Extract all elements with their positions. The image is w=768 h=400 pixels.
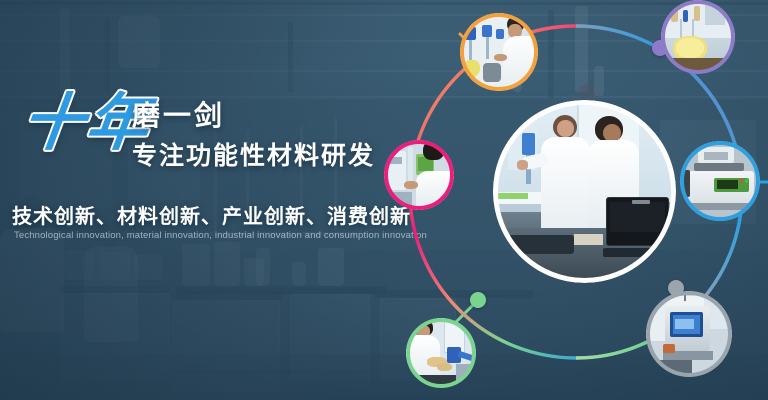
- subheadline-english: Technological innovation, material innov…: [14, 230, 427, 241]
- subheadline-chinese: 技术创新、材料创新、产业创新、消费创新: [12, 200, 411, 229]
- hero-banner: 十年 磨一剑 专注功能性材料研发 技术创新、材料创新、产业创新、消费创新 Tec…: [0, 0, 768, 400]
- satellite-photo-bottom-left[interactable]: [406, 318, 476, 388]
- satellite-photo-top-right[interactable]: [661, 0, 735, 74]
- photo-collage: [384, 0, 768, 400]
- headline-main-line: 十年 磨一剑 专注功能性材料研发: [12, 96, 412, 178]
- satellite-photo-bottom-right[interactable]: [646, 291, 732, 377]
- node-dot-bottom-left: [470, 292, 486, 308]
- headline-text-block: 十年 磨一剑 专注功能性材料研发 技术创新、材料创新、产业创新、消费创新 Tec…: [12, 96, 412, 178]
- satellite-photo-left[interactable]: [384, 140, 454, 210]
- satellite-photo-top-left[interactable]: [460, 13, 538, 91]
- satellite-photo-right[interactable]: [680, 141, 760, 221]
- center-photo-researchers[interactable]: [493, 100, 676, 283]
- headline-line-1: 磨一剑: [132, 102, 225, 130]
- headline-line-2: 专注功能性材料研发: [132, 144, 375, 169]
